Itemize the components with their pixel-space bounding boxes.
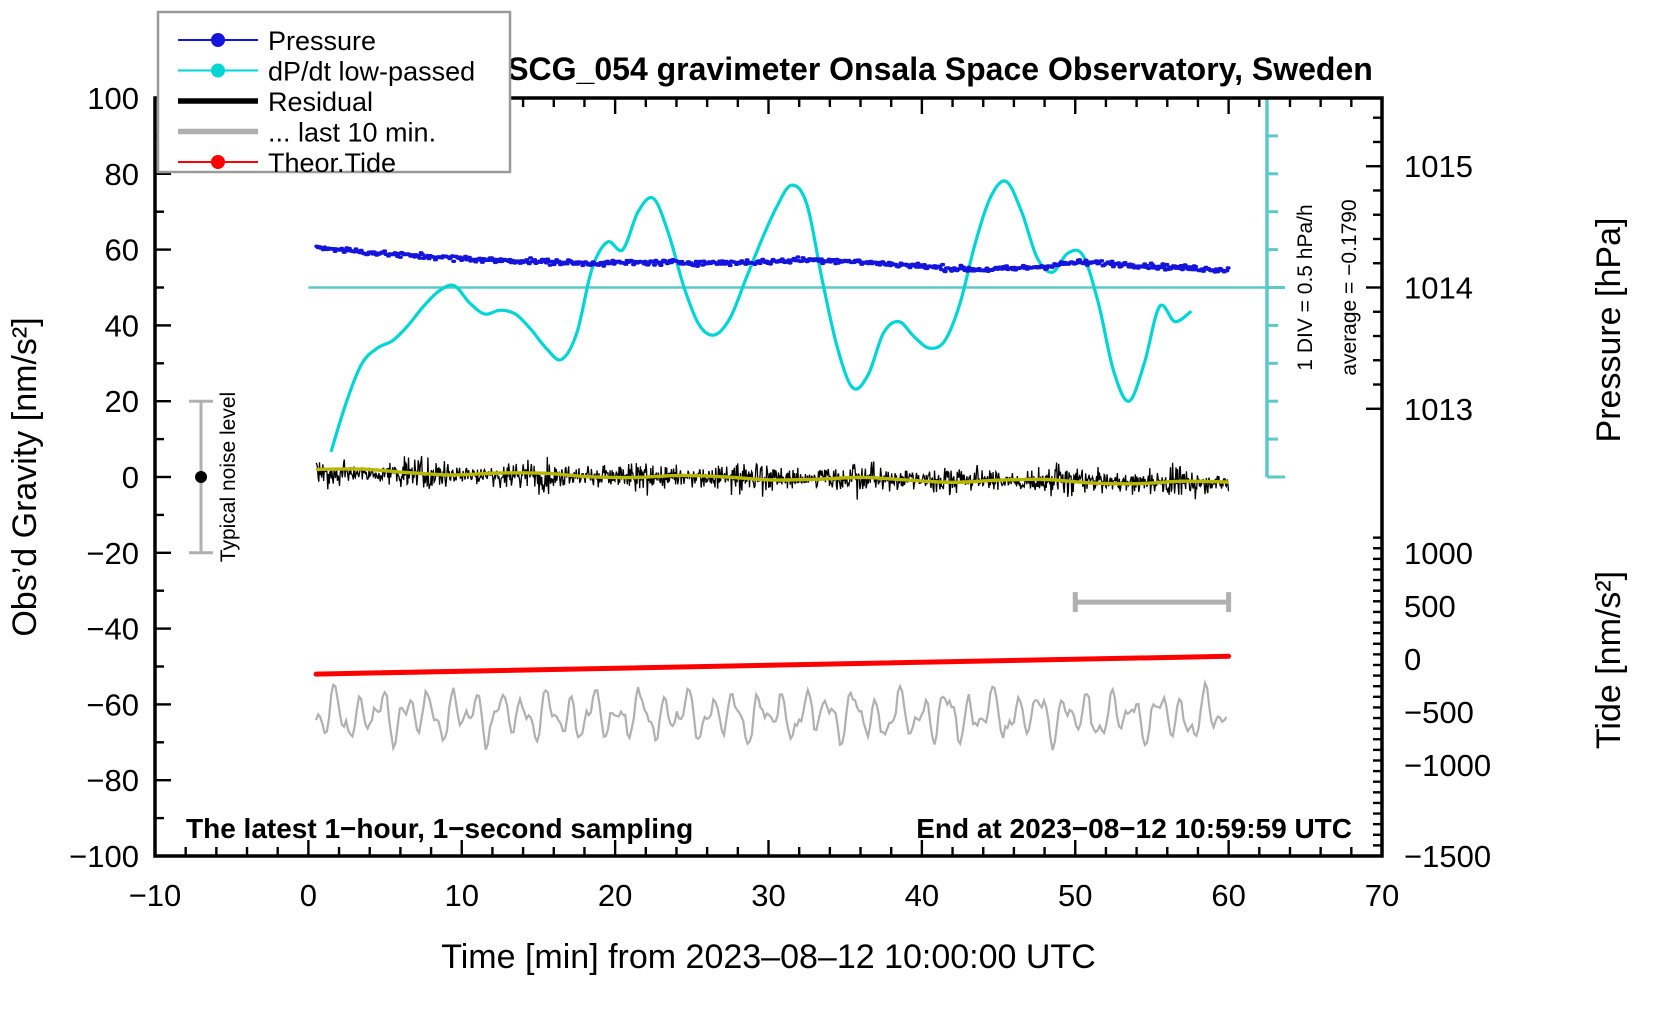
y-left-axis-title: Obs’d Gravity [nm/s²] xyxy=(6,317,44,636)
footer-left-text: The latest 1−hour, 1−second sampling xyxy=(186,813,693,844)
x-tick-label: 40 xyxy=(905,878,939,913)
legend-item-label: dP/dt low-passed xyxy=(268,57,475,87)
legend: PressuredP/dt low-passedResidual... last… xyxy=(158,12,510,178)
y-right-tide-tick-label: 1000 xyxy=(1404,536,1473,571)
plot-title: SCG_054 gravimeter Onsala Space Observat… xyxy=(507,51,1373,87)
y-left-tick-label: 100 xyxy=(87,81,139,116)
legend-item-label: ... last 10 min. xyxy=(268,118,436,148)
y-right-pressure-tick-label: 1015 xyxy=(1404,149,1473,184)
y-left-tick-label: −60 xyxy=(86,687,139,722)
y-right-pressure-tick-label: 1014 xyxy=(1404,271,1473,306)
y-left-tick-label: 80 xyxy=(105,157,139,192)
x-axis-title: Time [min] from 2023–08–12 10:00:00 UTC xyxy=(441,938,1096,976)
legend-swatch-dot xyxy=(211,33,225,47)
legend-swatch-dot xyxy=(211,155,225,169)
legend-item-label: Theor.Tide xyxy=(268,148,396,178)
typical-noise-label: Typical noise level xyxy=(217,392,240,562)
noise-center-dot xyxy=(195,471,207,483)
y-left-tick-label: 40 xyxy=(105,308,139,343)
y-right-tide-tick-label: −500 xyxy=(1404,695,1474,730)
y-left-tick-label: 60 xyxy=(105,233,139,268)
x-tick-label: −10 xyxy=(129,878,182,913)
y-left-tick-label: 20 xyxy=(105,384,139,419)
y-left-tick-label: −20 xyxy=(86,536,139,571)
y-right-pressure-tick-label: 1013 xyxy=(1404,392,1473,427)
y-left-tick-label: 0 xyxy=(122,460,139,495)
legend-item-label: Residual xyxy=(268,87,373,117)
gravimeter-plot: Typical noise level1 DIV = 0.5 hPa/haver… xyxy=(0,0,1660,1020)
footer-right-text: End at 2023−08−12 10:59:59 UTC xyxy=(916,813,1352,844)
y-left-tick-label: −40 xyxy=(86,612,139,647)
x-tick-label: 20 xyxy=(598,878,632,913)
y-right-tide-tick-label: 0 xyxy=(1404,642,1421,677)
legend-swatch-dot xyxy=(211,64,225,78)
y-right-tide-tick-label: 500 xyxy=(1404,589,1456,624)
x-tick-label: 10 xyxy=(445,878,479,913)
scale-div-label: 1 DIV = 0.5 hPa/h xyxy=(1294,204,1317,370)
y-left-tick-label: −100 xyxy=(69,839,139,874)
y-right-tide-title: Tide [nm/s²] xyxy=(1590,571,1628,749)
x-tick-label: 50 xyxy=(1058,878,1092,913)
y-right-tide-tick-label: −1000 xyxy=(1404,748,1491,783)
x-tick-label: 60 xyxy=(1211,878,1245,913)
plot-canvas: Typical noise level1 DIV = 0.5 hPa/haver… xyxy=(0,0,1660,1020)
x-tick-label: 70 xyxy=(1365,878,1399,913)
x-tick-label: 30 xyxy=(751,878,785,913)
average-label: average = −0.1790 xyxy=(1338,199,1361,375)
x-tick-label: 0 xyxy=(300,878,317,913)
y-right-tide-tick-label: −1500 xyxy=(1404,839,1491,874)
legend-item-label: Pressure xyxy=(268,26,376,56)
y-right-pressure-title: Pressure [hPa] xyxy=(1590,218,1628,443)
y-left-tick-label: −80 xyxy=(86,763,139,798)
